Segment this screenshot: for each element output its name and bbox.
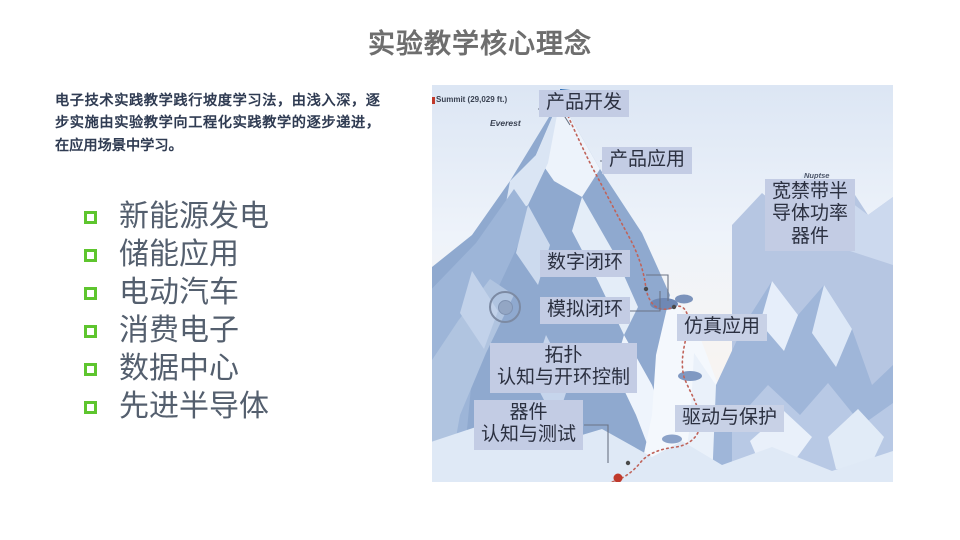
label-line: 导体功率 xyxy=(772,203,848,225)
list-item: 先进半导体 xyxy=(84,388,414,426)
bullet-label: 新能源发电 xyxy=(119,202,269,232)
list-item: 新能源发电 xyxy=(84,198,414,236)
square-bullet-icon xyxy=(84,363,97,376)
bullet-label: 储能应用 xyxy=(119,240,239,270)
page-title: 实验教学核心理念 xyxy=(0,22,960,61)
square-bullet-icon xyxy=(84,401,97,414)
label-analog-closed-loop: 模拟闭环 xyxy=(540,297,630,324)
label-line: 器件 xyxy=(481,402,576,424)
label-wide-bandgap-power-device: 宽禁带半 导体功率 器件 xyxy=(765,179,855,251)
label-topology-open-loop-control: 拓扑 认知与开环控制 xyxy=(490,343,637,393)
bullet-label: 先进半导体 xyxy=(119,392,269,422)
list-item: 储能应用 xyxy=(84,236,414,274)
everest-peak-annotation: Everest xyxy=(490,118,521,128)
label-drive-and-protection: 驱动与保护 xyxy=(675,405,784,432)
bullet-label: 电动汽车 xyxy=(119,278,239,308)
bullet-label: 数据中心 xyxy=(119,354,239,384)
summit-elevation-annotation: Summit (29,029 ft.) xyxy=(436,95,507,104)
waypoint-circle-icon xyxy=(489,291,521,323)
label-line: 认知与测试 xyxy=(481,424,576,446)
label-simulation-application: 仿真应用 xyxy=(677,314,767,341)
square-bullet-icon xyxy=(84,249,97,262)
label-product-application: 产品应用 xyxy=(602,147,692,174)
square-bullet-icon xyxy=(84,211,97,224)
square-bullet-icon xyxy=(84,325,97,338)
label-line: 拓扑 xyxy=(497,345,630,367)
label-digital-closed-loop: 数字闭环 xyxy=(540,250,630,277)
label-line: 宽禁带半 xyxy=(772,181,848,203)
list-item: 数据中心 xyxy=(84,350,414,388)
list-item: 消费电子 xyxy=(84,312,414,350)
application-bullet-list: 新能源发电 储能应用 电动汽车 消费电子 数据中心 先进半导体 xyxy=(84,198,414,426)
description-paragraph: 电子技术实践教学践行坡度学习法，由浅入深，逐步实施由实验教学向工程化实践教学的逐… xyxy=(55,90,380,157)
list-item: 电动汽车 xyxy=(84,274,414,312)
label-line: 器件 xyxy=(772,226,848,248)
bullet-label: 消费电子 xyxy=(119,316,239,346)
waypoint-dot-icon xyxy=(498,300,513,315)
mountain-illustration: Summit (29,029 ft.) Everest Nuptse 产品开发 … xyxy=(432,85,893,482)
label-product-development: 产品开发 xyxy=(539,90,629,117)
square-bullet-icon xyxy=(84,287,97,300)
label-device-cognition-test: 器件 认知与测试 xyxy=(474,400,583,450)
label-line: 认知与开环控制 xyxy=(497,367,630,389)
